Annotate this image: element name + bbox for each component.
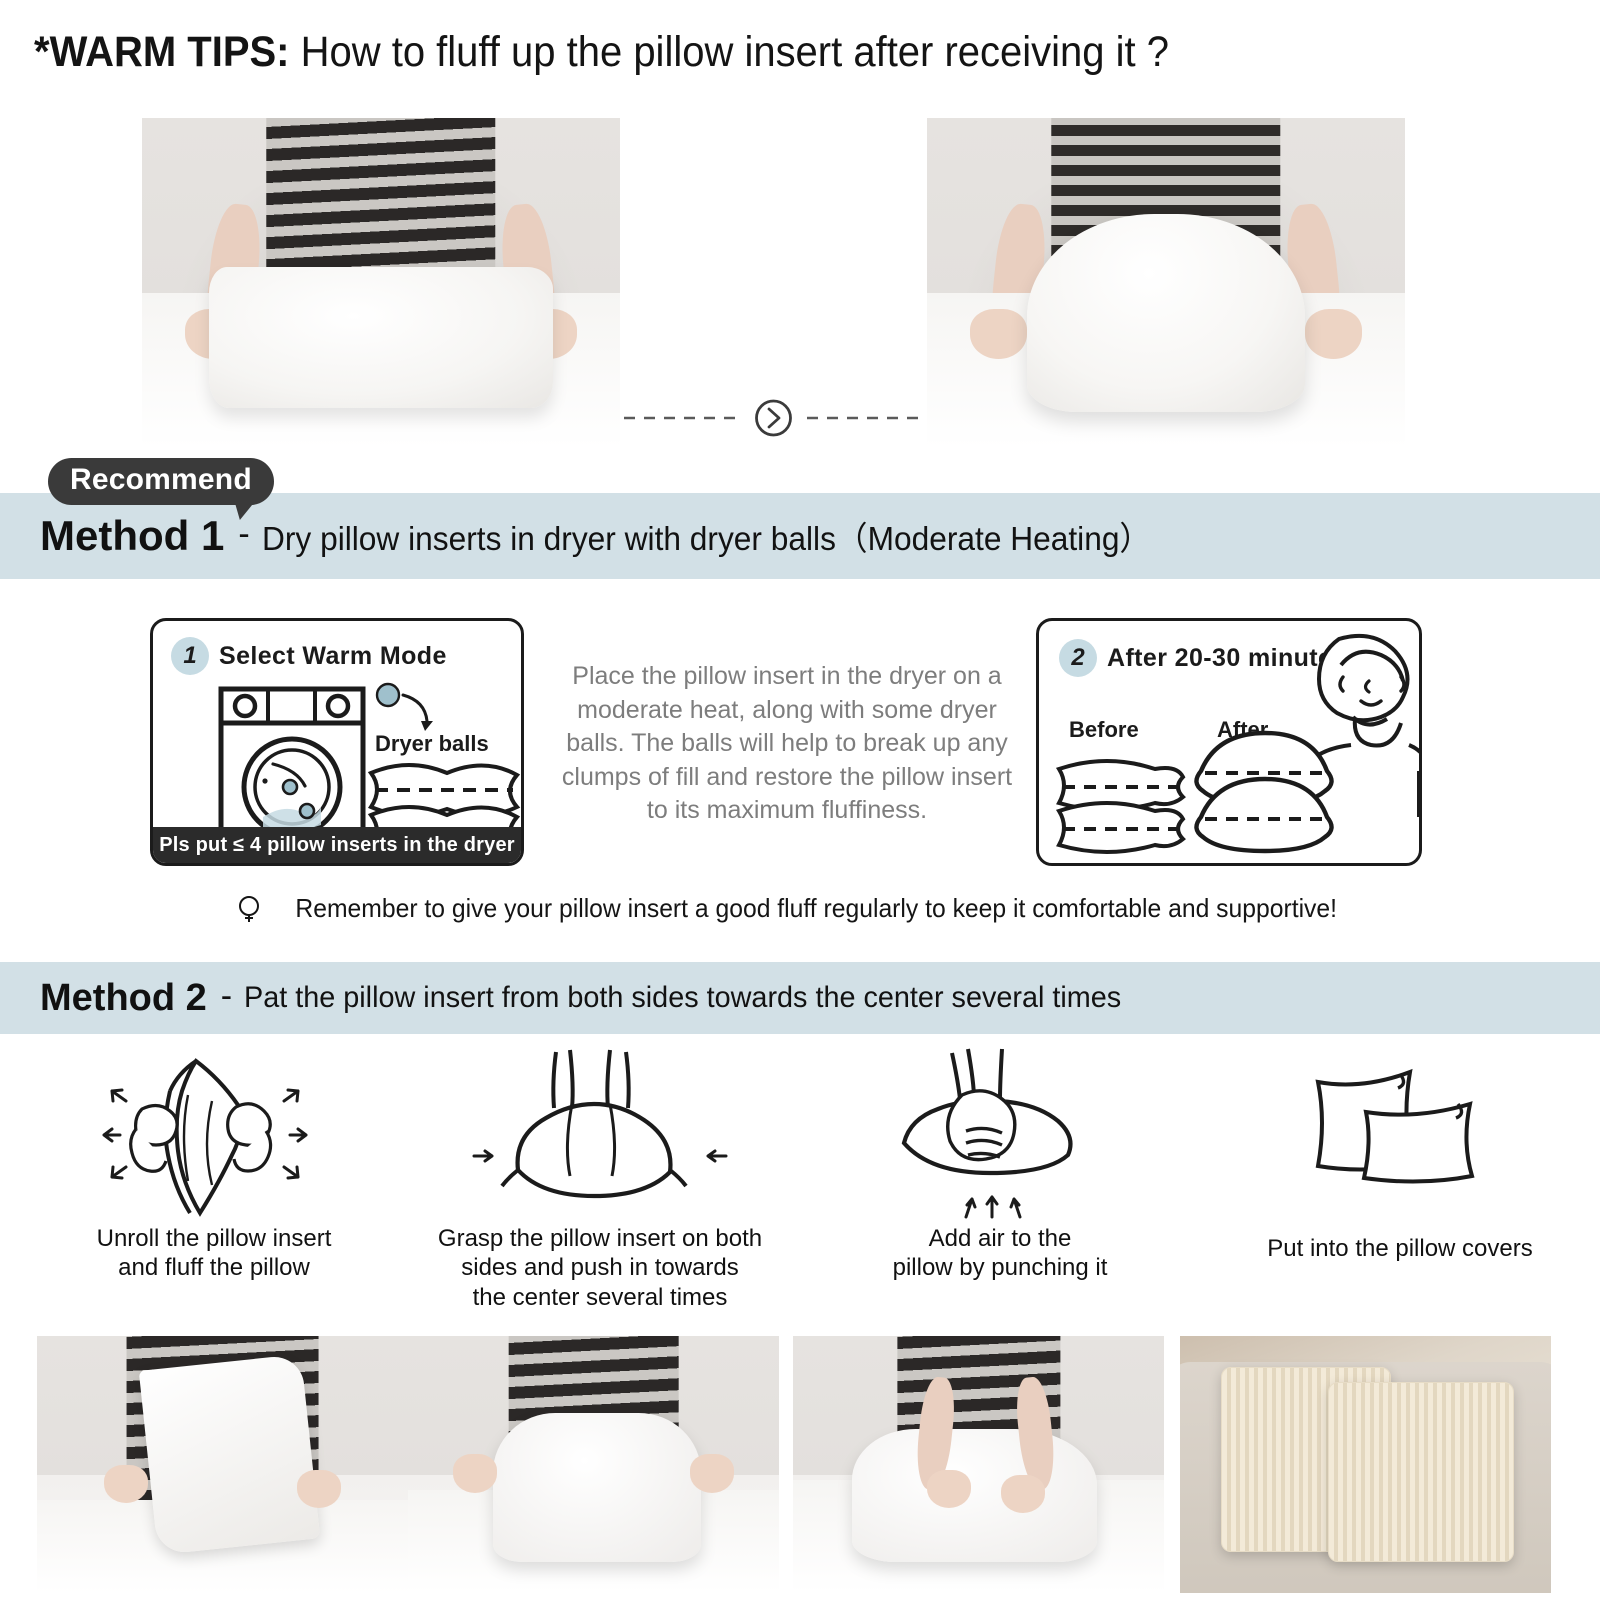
dryer-ball-icon (377, 684, 399, 706)
illus-push-center (400, 1048, 800, 1223)
progress-connector (622, 398, 925, 438)
method-2-dash: - (221, 977, 232, 1016)
arrow-outward-right-icon (284, 1090, 306, 1178)
method-2-number: Method 2 (40, 977, 207, 1020)
arrow-outward-left-icon (104, 1090, 126, 1178)
method-1-dash: - (238, 515, 249, 554)
illus-pillow-covers (1200, 1048, 1600, 1223)
illus-unroll-fluff (14, 1048, 414, 1223)
pillow-cover-lumbar-icon (1364, 1104, 1472, 1182)
arrow-up-icon (966, 1197, 1020, 1217)
fluff-reminder-tip: Remember to give your pillow insert a go… (0, 893, 1600, 924)
method-1-body: 1 Select Warm Mode (0, 600, 1600, 890)
recommend-badge-tail (230, 500, 256, 520)
page-title-prefix: *WARM TIPS: (34, 28, 289, 76)
photo-pillow-covers (1180, 1336, 1551, 1593)
fluff-reminder-text: Remember to give your pillow insert a go… (295, 893, 1337, 924)
photo-punch-air (793, 1336, 1164, 1593)
hand-right-icon (228, 1103, 271, 1170)
page-title-question: How to fluff up the pillow insert after … (301, 28, 1169, 76)
dryer-capacity-caption: Pls put ≤ 4 pillow inserts in the dryer (153, 827, 521, 863)
method-2-text: Pat the pillow insert from both sides to… (244, 981, 1121, 1015)
chevron-right-circle-icon (757, 401, 791, 435)
pillow-pushed-icon (518, 1104, 671, 1196)
dryer-balls-label: Dryer balls (375, 731, 489, 757)
top-photo-row (0, 118, 1600, 448)
illus-punch-air (800, 1048, 1200, 1223)
caption-pillow-covers: Put into the pillow covers (1200, 1234, 1600, 1263)
method-2-header: Method 2 - Pat the pillow insert from bo… (0, 962, 1600, 1034)
photo-unroll-fluff (37, 1336, 408, 1593)
method-1-step-1-card: 1 Select Warm Mode (150, 618, 524, 866)
lightbulb-icon (236, 894, 262, 924)
infographic-page: *WARM TIPS: How to fluff up the pillow i… (0, 0, 1600, 1601)
method-1-paragraph: Place the pillow insert in the dryer on … (552, 660, 1022, 828)
page-title: *WARM TIPS: How to fluff up the pillow i… (34, 28, 1169, 77)
method-2-illustrations: Unroll the pillow insertand fluff the pi… (0, 1048, 1600, 1253)
method-1-text: Dry pillow inserts in dryer with dryer b… (262, 512, 1151, 560)
method-1-number: Method 1 (40, 512, 224, 560)
photo-flat-pillow-before (142, 118, 620, 448)
caption-punch-air: Add air to thepillow by punching it (800, 1224, 1200, 1283)
recommend-badge-label: Recommend (70, 463, 252, 496)
method-1-step-2-card: 2 After 20-30 minutes Before After (1036, 618, 1422, 866)
photo-fluffed-pillow-after (927, 118, 1405, 448)
hand-fist-icon (948, 1090, 1015, 1159)
pillow-flat-outline-icon (1059, 803, 1183, 852)
washer-knob-icon (328, 696, 348, 716)
caption-push-center: Grasp the pillow insert on bothsides and… (400, 1224, 800, 1312)
photo-push-center (408, 1336, 779, 1593)
recommend-badge: Recommend (48, 458, 274, 505)
caption-unroll-fluff: Unroll the pillow insertand fluff the pi… (14, 1224, 414, 1283)
washer-knob-icon (235, 696, 255, 716)
